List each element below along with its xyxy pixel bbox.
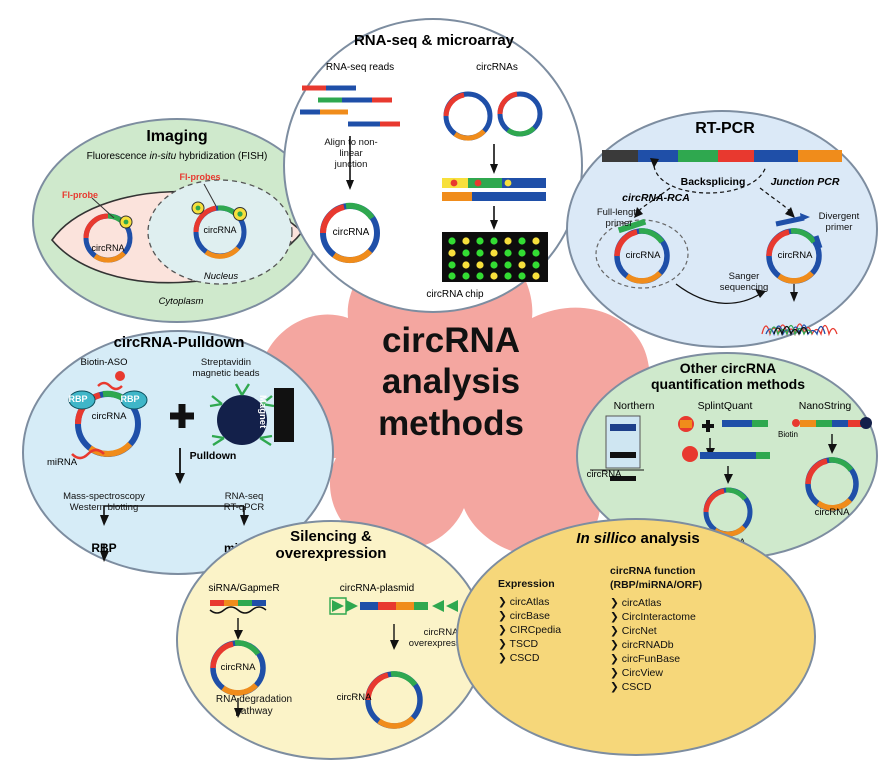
figure-canvas: circRNA analysis methods Imaging Fluores… [0, 0, 896, 770]
imaging-nucleus-label: Nucleus [193, 272, 249, 283]
nanostring-label: NanoString [782, 400, 868, 412]
rna-degradation-label: RNA degradationpathway [192, 694, 316, 717]
biotin-aso-label: Biotin-ASO [66, 358, 142, 369]
divergent-primer-label: Divergentprimer [806, 212, 872, 234]
rtpcr-circrna-label-2: circRNA [769, 251, 821, 262]
list-item: ❯ circFunBase [610, 653, 775, 667]
rnaseq-illustration [296, 78, 571, 308]
list-item: ❯ circAtlas [610, 597, 775, 611]
imaging-fl-probe-label: Fl-probe [56, 190, 104, 200]
other-quant-northern-circrna-label: circRNA [578, 470, 630, 481]
align-junction-label: Align to non-linearjunction [312, 138, 390, 171]
circrna-chip-label: circRNA chip [410, 289, 500, 301]
imaging-subtitle: Fluorescence in-situ hybridization (FISH… [48, 151, 306, 163]
rnaseq-rtqpcr-label: RNA-seqRT-qPCR [194, 492, 294, 514]
circrna-rca-label: circRNA-RCA [608, 192, 704, 204]
rbp-label-1: RBP [60, 394, 96, 404]
rtpcr-title: RT-PCR [660, 120, 790, 138]
rbp-output-label: RBP [74, 542, 134, 556]
circrnas-label: circRNAs [452, 62, 542, 74]
center-title: circRNA analysis methods [296, 320, 606, 444]
list-item: ❯ CSCD [610, 681, 775, 695]
silencing-title: Silencing &overexpression [236, 528, 426, 563]
silencing-circrna-label-2: circRNA [328, 693, 380, 704]
backsplicing-label: Backsplicing [668, 176, 758, 188]
pulldown-title: circRNA-Pulldown [76, 334, 282, 351]
rtpcr-circrna-label-1: circRNA [617, 251, 669, 262]
list-item: ❯ CircNet [610, 625, 775, 639]
list-item: ❯ circAtlas [498, 596, 618, 610]
imaging-illustration [44, 162, 312, 312]
expression-header: Expression [498, 578, 618, 592]
rnaseq-title: RNA-seq & microarray [318, 32, 550, 49]
rnaseq-circrna-label: circRNA [325, 227, 377, 239]
circrna-function-column: circRNA function(RBP/miRNA/ORF) ❯ circAt… [610, 565, 775, 695]
list-item: ❯ CircView [610, 667, 775, 681]
imaging-title: Imaging [92, 128, 262, 146]
sanger-sequencing-label: Sangersequencing [706, 272, 782, 294]
magnet-label: Magnet [257, 395, 268, 455]
list-item: ❯ CIRCpedia [498, 624, 618, 638]
splintquant-label: SplintQuant [682, 400, 768, 412]
pulldown-circrna-label: circRNA [82, 412, 136, 423]
imaging-cytoplasm-label: Cytoplasm [146, 297, 216, 308]
mirna-label: miRNA [38, 458, 86, 469]
mass-spec-label: Mass-spectroscopyWestern blotting [38, 492, 170, 514]
pulldown-step-label: Pulldown [182, 450, 244, 462]
junction-pcr-label: Junction PCR [762, 176, 848, 188]
imaging-circrna-label-1: circRNA [83, 243, 133, 253]
silencing-illustration [186, 596, 478, 752]
imaging-circrna-label-2: circRNA [195, 225, 245, 235]
biotin-label: Biotin [768, 430, 808, 439]
rtpcr-illustration [580, 144, 870, 340]
silencing-circrna-label-1: circRNA [212, 663, 264, 674]
rnaseq-reads-label: RNA-seq reads [305, 62, 415, 74]
imaging-fl-probes-label: Fl-probes [170, 172, 230, 182]
list-item: ❯ TSCD [498, 638, 618, 652]
in-sillico-title: In sillico analysis [516, 530, 760, 547]
northern-label: Northern [598, 400, 670, 412]
other-quant-nano-circrna-label: circRNA [806, 508, 858, 519]
list-item: ❯ circBase [498, 610, 618, 624]
full-length-primer-label: Full-lengthprimer [582, 208, 656, 230]
list-item: ❯ CircInteractome [610, 611, 775, 625]
list-item: ❯ circRNADb [610, 639, 775, 653]
streptavidin-beads-label: Streptavidinmagnetic beads [172, 358, 280, 380]
sirna-gapmer-label: siRNA/GapmeR [192, 583, 296, 595]
circrna-plasmid-label: circRNA-plasmid [312, 583, 442, 595]
list-item: ❯ CSCD [498, 652, 618, 666]
expression-column: Expression ❯ circAtlas ❯ circBase ❯ CIRC… [498, 578, 618, 666]
rbp-label-2: RBP [112, 394, 148, 404]
circrna-function-header: circRNA function(RBP/miRNA/ORF) [610, 565, 775, 593]
other-quant-title: Other circRNAquantification methods [628, 360, 828, 392]
